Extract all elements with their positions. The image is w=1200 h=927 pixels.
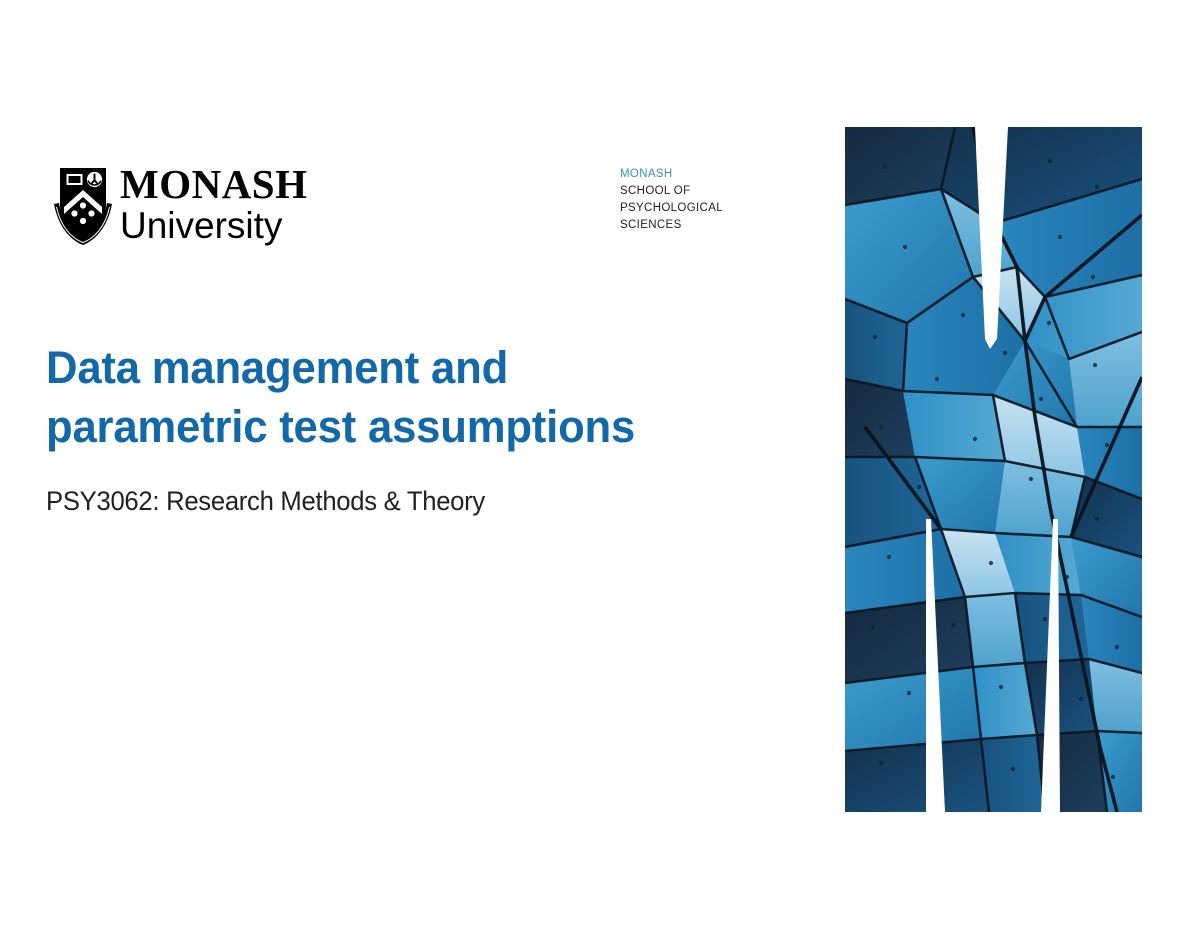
- title-block: Data management and parametric test assu…: [46, 338, 746, 456]
- page-title: Data management and parametric test assu…: [46, 338, 725, 456]
- faculty-block: MONASH SCHOOL OF PSYCHOLOGICAL SCIENCES: [620, 166, 790, 234]
- svg-text:MONASH: MONASH: [120, 162, 308, 207]
- faculty-line-3: SCIENCES: [620, 217, 790, 234]
- monash-wordmark: MONASH University: [120, 162, 350, 248]
- faculty-line-1: SCHOOL OF: [620, 183, 790, 200]
- monash-crest-icon: [52, 164, 114, 246]
- faculty-line-2: PSYCHOLOGICAL: [620, 200, 790, 217]
- svg-text:University: University: [120, 205, 283, 246]
- monash-m-faceted-image: [845, 127, 1142, 812]
- faculty-brand: MONASH: [620, 166, 790, 183]
- monash-logo: MONASH University: [52, 162, 352, 252]
- page-subtitle: PSY3062: Research Methods & Theory: [46, 484, 485, 518]
